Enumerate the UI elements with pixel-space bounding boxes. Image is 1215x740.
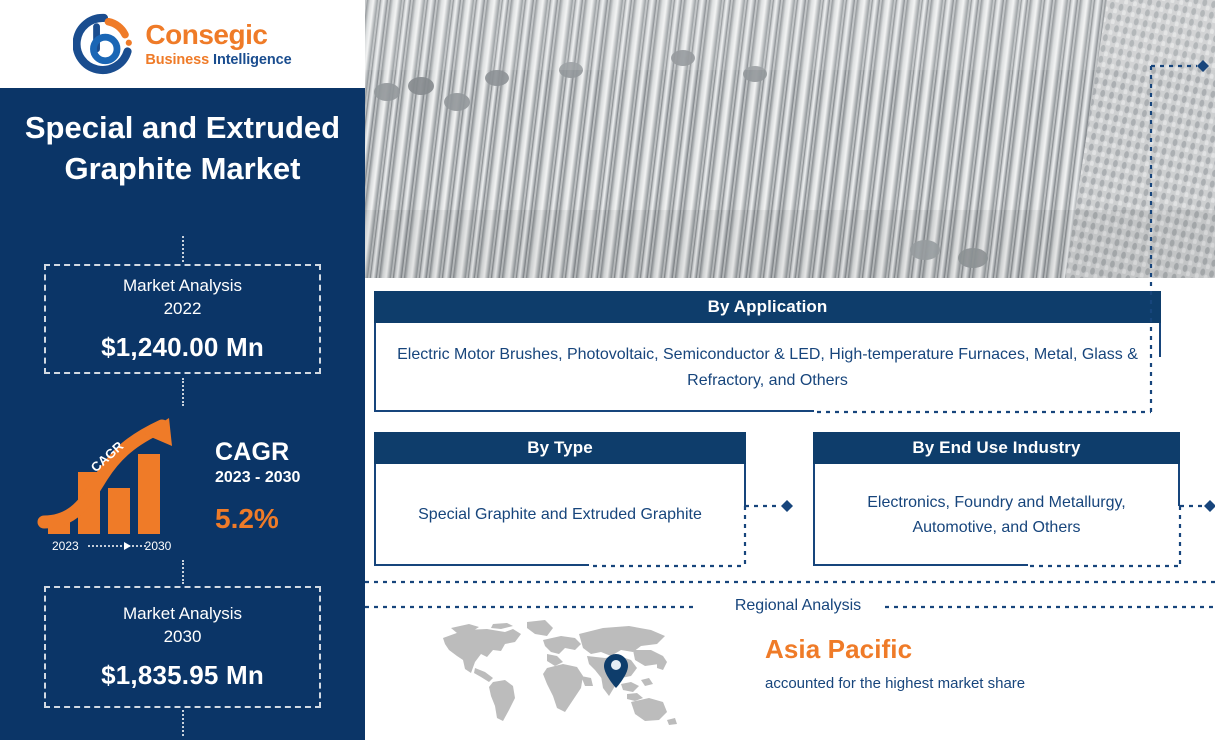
consegic-b-logo-icon (73, 13, 135, 75)
world-map-icon (435, 620, 680, 725)
market-analysis-2030-box: Market Analysis 2030 $1,835.95 Mn (44, 586, 321, 708)
card-border-bottom-partial (374, 564, 589, 566)
segment-card-application[interactable]: By Application Electric Motor Brushes, P… (374, 291, 1161, 412)
segment-card-type[interactable]: By Type Special Graphite and Extruded Gr… (374, 432, 746, 566)
regional-analysis-label: Regional Analysis (713, 597, 883, 615)
dotted-connector-3 (182, 560, 184, 584)
brand-name: Consegic (145, 21, 291, 49)
cagr-axis-start-label: 2023 (52, 539, 79, 553)
segment-body-application: Electric Motor Brushes, Photovoltaic, Se… (374, 323, 1161, 412)
hero-image (365, 0, 1215, 278)
stat-value-2022: $1,240.00 Mn (101, 332, 264, 363)
segment-title-enduse: By End Use Industry (813, 432, 1180, 464)
card-border-right-partial (744, 464, 746, 506)
stat-label-2022: Market Analysis 2022 (123, 275, 242, 321)
region-description: accounted for the highest market share (765, 673, 1095, 695)
segment-body-type: Special Graphite and Extruded Graphite (374, 464, 746, 566)
regional-highlight: Asia Pacific accounted for the highest m… (765, 634, 1095, 695)
cagr-section: CAGR 2023 2030 CAGR 2023 - 2030 5.2% (30, 414, 340, 564)
card-border-right-partial (1159, 323, 1161, 357)
market-analysis-2022-box: Market Analysis 2022 $1,240.00 Mn (44, 264, 321, 374)
segment-card-enduse[interactable]: By End Use Industry Electronics, Foundry… (813, 432, 1180, 566)
cagr-heading: CAGR (215, 438, 343, 467)
card-border-left (374, 464, 376, 566)
infographic-page: Consegic Business Intelligence Special a… (0, 0, 1215, 740)
sidebar: Consegic Business Intelligence Special a… (0, 0, 365, 740)
dotted-connector-2 (182, 378, 184, 406)
segment-title-application: By Application (374, 291, 1161, 323)
stat-label-2030: Market Analysis 2030 (123, 603, 242, 649)
stat-value-2030: $1,835.95 Mn (101, 660, 264, 691)
graphite-rods-photo (365, 0, 1215, 278)
card-border-left (374, 323, 376, 412)
segment-body-enduse: Electronics, Foundry and Metallurgy, Aut… (813, 464, 1180, 566)
cagr-axis-end-label: 2030 (145, 539, 172, 553)
cagr-growth-chart-icon: CAGR 2023 2030 (36, 414, 196, 554)
cagr-values: CAGR 2023 - 2030 5.2% (215, 438, 343, 535)
main-panel: By Application Electric Motor Brushes, P… (365, 0, 1215, 740)
brand-tagline: Business Intelligence (145, 53, 291, 68)
brand-logo[interactable]: Consegic Business Intelligence (0, 0, 365, 88)
connector-diamond-enduse (1204, 500, 1215, 512)
card-border-bottom-partial (374, 410, 814, 412)
cagr-period: 2023 - 2030 (215, 469, 343, 487)
dotted-connector-1 (182, 236, 184, 262)
card-border-bottom-partial (813, 564, 1028, 566)
cagr-value: 5.2% (215, 503, 343, 535)
segment-title-type: By Type (374, 432, 746, 464)
dotted-connector-4 (182, 710, 184, 736)
card-border-right-partial (1178, 464, 1180, 506)
connector-diamond-type (781, 500, 793, 512)
brand-wordmark: Consegic Business Intelligence (145, 21, 291, 68)
region-name: Asia Pacific (765, 634, 1095, 665)
page-title: Special and Extruded Graphite Market (10, 108, 355, 190)
card-border-left (813, 464, 815, 566)
